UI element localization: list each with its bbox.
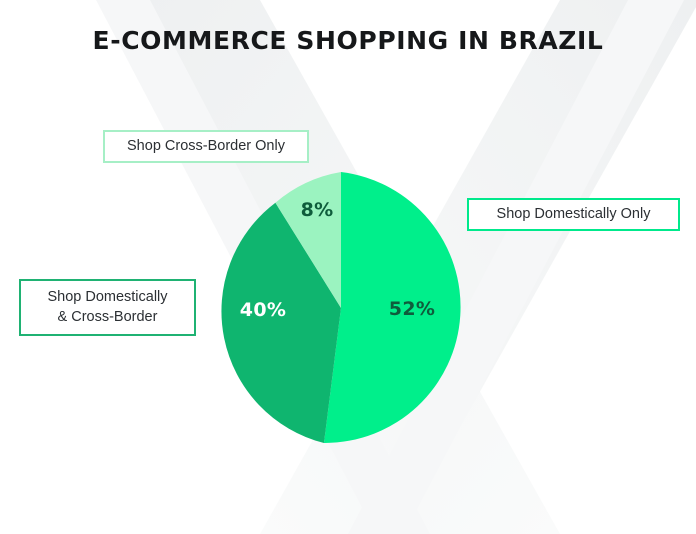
slice-value-domestic-and-cross-border: 40% [240, 299, 286, 321]
callout-cross-border-only-label: Shop Cross-Border Only [127, 137, 285, 157]
callout-domestic-only-label: Shop Domestically Only [497, 205, 651, 225]
callout-domestic-and-cross-border-line2: & Cross-Border [47, 308, 167, 328]
callout-domestic-and-cross-border-line1: Shop Domestically [47, 288, 167, 308]
chart-canvas: E-COMMERCE SHOPPING IN BRAZIL 52% 40% 8%… [0, 0, 696, 534]
callout-domestic-only[interactable]: Shop Domestically Only [467, 198, 680, 231]
callout-cross-border-only[interactable]: Shop Cross-Border Only [103, 130, 309, 163]
callout-domestic-and-cross-border-label: Shop Domestically & Cross-Border [47, 288, 167, 327]
callout-domestic-and-cross-border[interactable]: Shop Domestically & Cross-Border [19, 279, 196, 336]
pie-chart: 52% 40% 8% [205, 172, 477, 444]
slice-value-domestic-only: 52% [389, 298, 435, 320]
slice-value-cross-border-only: 8% [301, 199, 334, 221]
page-title: E-COMMERCE SHOPPING IN BRAZIL [0, 26, 696, 55]
